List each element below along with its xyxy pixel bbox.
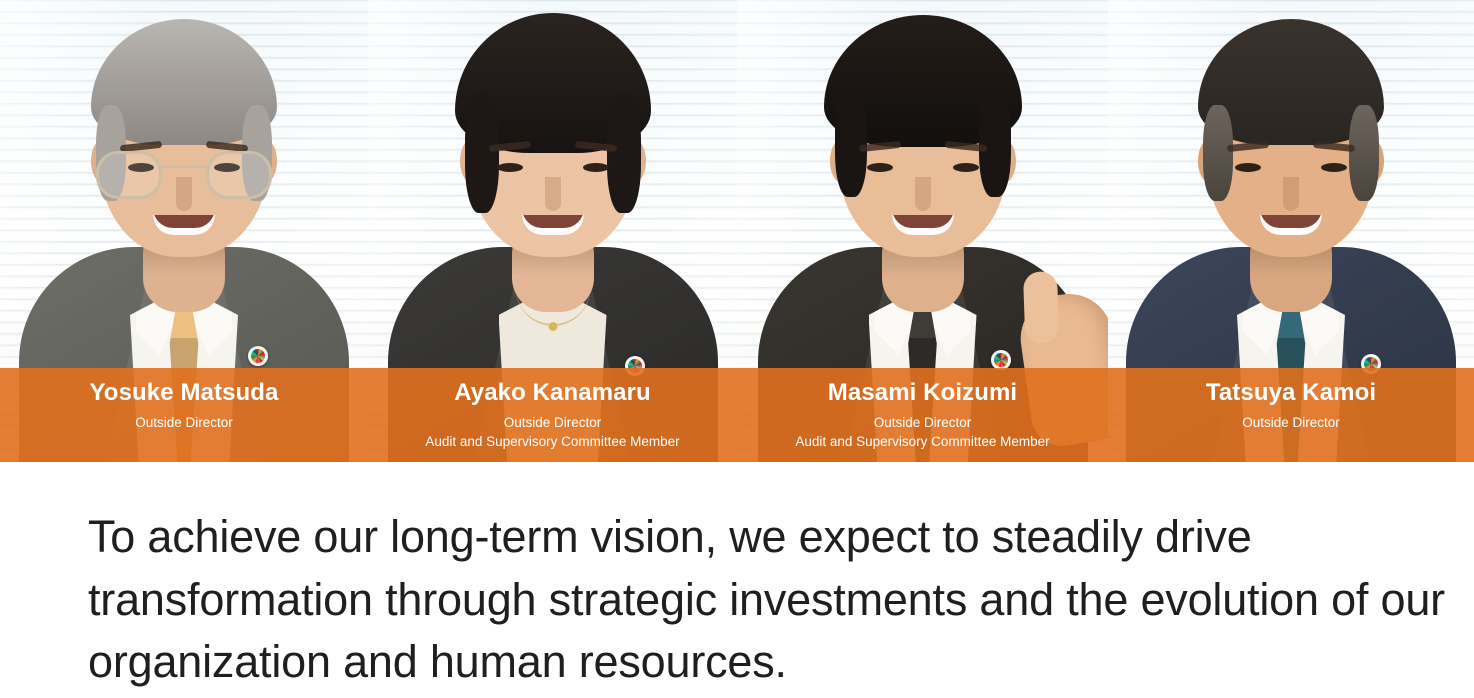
caption-tatsuya-kamoi: Tatsuya Kamoi Outside Director <box>1108 368 1474 462</box>
head <box>469 47 637 257</box>
headline-area: To achieve our long-term vision, we expe… <box>0 462 1474 698</box>
lens-left <box>96 151 162 199</box>
person-name: Yosuke Matsuda <box>89 379 278 407</box>
hair-side-right <box>607 93 641 213</box>
mouth-smiling <box>153 215 215 235</box>
caption-yosuke-matsuda: Yosuke Matsuda Outside Director <box>0 368 368 462</box>
eye-left <box>1235 163 1261 172</box>
name-caption-bar: Yosuke Matsuda Outside Director Ayako Ka… <box>0 368 1474 462</box>
eyeglasses-icon <box>96 151 272 201</box>
eye-right <box>583 163 609 172</box>
lens-right <box>206 151 272 199</box>
person-role-line-1: Outside Director <box>874 413 972 432</box>
person-name: Tatsuya Kamoi <box>1206 379 1376 407</box>
caption-masami-koizumi: Masami Koizumi Outside Director Audit an… <box>737 368 1108 462</box>
sdg-wheel-pin-icon <box>248 346 268 366</box>
hair-side-left <box>465 93 499 213</box>
person-role-line-1: Outside Director <box>1242 413 1340 432</box>
mouth-smiling <box>1260 215 1322 235</box>
head <box>1207 47 1375 257</box>
person-name: Masami Koizumi <box>828 379 1017 407</box>
glasses-bridge <box>162 165 206 168</box>
hair-side-right <box>979 89 1011 197</box>
hair-side-right <box>1349 105 1379 201</box>
director-message-banner: Yosuke Matsuda Outside Director Ayako Ka… <box>0 0 1474 698</box>
mouth-smiling <box>522 215 584 235</box>
caption-ayako-kanamaru: Ayako Kanamaru Outside Director Audit an… <box>368 368 737 462</box>
eye-right <box>953 163 979 172</box>
hair-side-left <box>1203 105 1233 201</box>
person-role-line-1: Outside Director <box>504 413 602 432</box>
hair-side-left <box>835 89 867 197</box>
nose <box>545 177 561 211</box>
head <box>839 47 1007 257</box>
nose <box>1283 177 1299 211</box>
person-role-line-2: Audit and Supervisory Committee Member <box>425 432 679 451</box>
eye-left <box>497 163 523 172</box>
mouth-speaking <box>892 215 954 235</box>
person-name: Ayako Kanamaru <box>454 379 651 407</box>
head <box>100 47 268 257</box>
eyebrow-left <box>1227 141 1270 152</box>
eye-left <box>867 163 893 172</box>
sdg-wheel-pin-icon <box>991 350 1011 370</box>
page-title: To achieve our long-term vision, we expe… <box>88 506 1468 694</box>
person-role-line-2: Audit and Supervisory Committee Member <box>795 432 1049 451</box>
eye-right <box>1321 163 1347 172</box>
nose <box>915 177 931 211</box>
person-role-line-1: Outside Director <box>135 413 233 432</box>
